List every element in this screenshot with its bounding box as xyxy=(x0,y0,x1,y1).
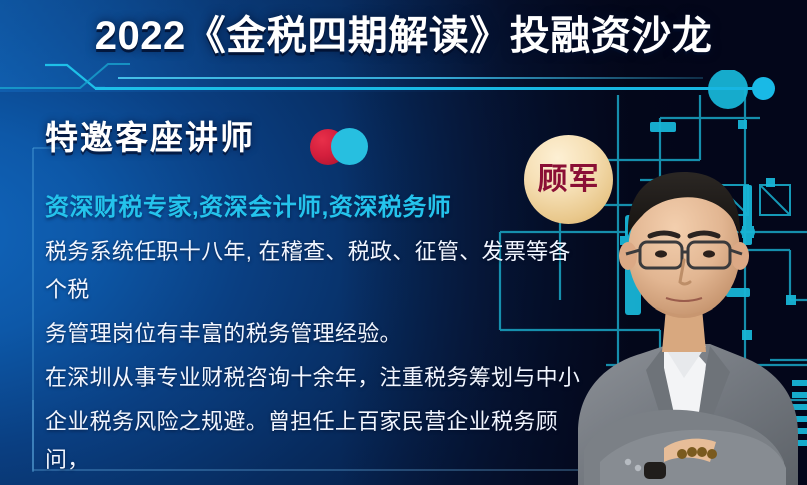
header-rule-thick xyxy=(95,87,758,90)
page-title: 2022《金税四期解读》投融资沙龙 xyxy=(0,11,807,61)
bio-line: 税务系统任职十八年, 在稽查、税政、征管、发票等各个税 xyxy=(45,233,581,309)
header-rule-diagonal xyxy=(45,63,105,90)
decor-circle-cyan xyxy=(331,128,368,165)
header-rule-thin xyxy=(118,77,703,79)
poster-root: 2022《金税四期解读》投融资沙龙 特邀客座讲师 顾军 资深财税专家,资深会计师… xyxy=(0,0,807,485)
speaker-credentials: 资深财税专家,资深会计师,资深税务师 xyxy=(45,192,451,224)
speaker-bio: 税务系统任职十八年, 在稽查、税政、征管、发票等各个税 务管理岗位有丰富的税务管… xyxy=(45,233,581,485)
header-accent-dot xyxy=(752,77,775,100)
bio-line: 务管理岗位有丰富的税务管理经验。 xyxy=(45,315,581,353)
bio-line: 企业税务风险之规避。曾担任上百家民营企业税务顾问， xyxy=(45,403,581,479)
bio-line: 在深圳从事专业财税咨询十余年，注重税务筹划与中小 xyxy=(45,359,581,397)
speaker-portrait xyxy=(560,132,807,485)
lecturer-heading: 特邀客座讲师 xyxy=(45,118,255,158)
